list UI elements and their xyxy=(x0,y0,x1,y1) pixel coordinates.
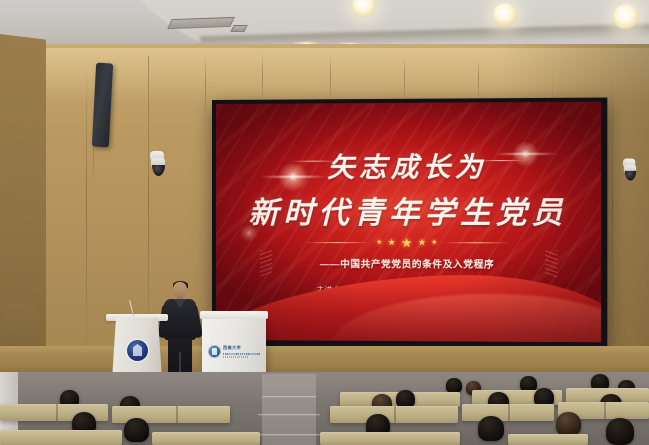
seal-mark xyxy=(209,346,220,357)
seat-row xyxy=(508,434,588,445)
seat-divider xyxy=(394,406,396,423)
seat-divider xyxy=(56,404,58,421)
wall-seam-4 xyxy=(262,52,263,98)
ptz-camera-dome xyxy=(624,171,635,181)
wall-seam-1 xyxy=(86,50,87,350)
ptz-camera-icon-right xyxy=(621,159,639,182)
university-seal-icon-main: 西南大学 xyxy=(209,345,261,358)
wall-seam-5 xyxy=(330,54,331,98)
seal-chinese-name: 西南大学 xyxy=(223,345,261,351)
main-podium: 西南大学 xyxy=(202,316,266,380)
audience-head xyxy=(446,378,462,393)
seal-subline-1 xyxy=(223,353,261,355)
camera-cable xyxy=(148,56,149,152)
seat-row xyxy=(0,430,122,445)
presenter xyxy=(160,282,200,380)
wall-seam-9 xyxy=(612,62,613,348)
wall-seam-6 xyxy=(404,56,405,98)
seat-divider xyxy=(508,404,510,421)
seat-row xyxy=(320,432,460,445)
auditorium-scene: 矢志成长为 新时代青年学生党员 ★ ★ ★ ★ ★ ——中国共产党党员的条件及入… xyxy=(0,0,649,445)
seat-divider xyxy=(604,402,606,419)
university-seal-icon-left xyxy=(127,340,148,361)
speaker-cable xyxy=(93,146,94,180)
audience-head xyxy=(478,416,504,441)
aisle-step-2 xyxy=(258,414,320,416)
seal-text-block: 西南大学 xyxy=(223,345,261,358)
slide-vignette xyxy=(216,102,601,343)
aisle-step-3 xyxy=(254,434,324,436)
ptz-camera-icon-left xyxy=(148,151,168,177)
presentation-slide: 矢志成长为 新时代青年学生党员 ★ ★ ★ ★ ★ ——中国共产党党员的条件及入… xyxy=(216,102,601,343)
ptz-camera-dome xyxy=(152,165,165,176)
audience-head xyxy=(606,418,634,445)
seal-subline-2 xyxy=(223,356,249,358)
left-podium xyxy=(112,318,162,380)
seat-divider xyxy=(176,406,178,423)
audience-head xyxy=(556,412,581,436)
led-screen: 矢志成长为 新时代青年学生党员 ★ ★ ★ ★ ★ ——中国共产党党员的条件及入… xyxy=(212,98,607,349)
audience-head xyxy=(124,418,149,442)
wall-seam-3 xyxy=(205,54,206,114)
main-podium-top xyxy=(200,311,268,319)
ceiling-light-icon-3 xyxy=(613,4,639,30)
aisle-step-1 xyxy=(262,396,316,398)
ceiling-light-icon-2 xyxy=(493,3,517,27)
seat-row xyxy=(152,432,260,445)
wall-seam-7 xyxy=(478,58,479,98)
